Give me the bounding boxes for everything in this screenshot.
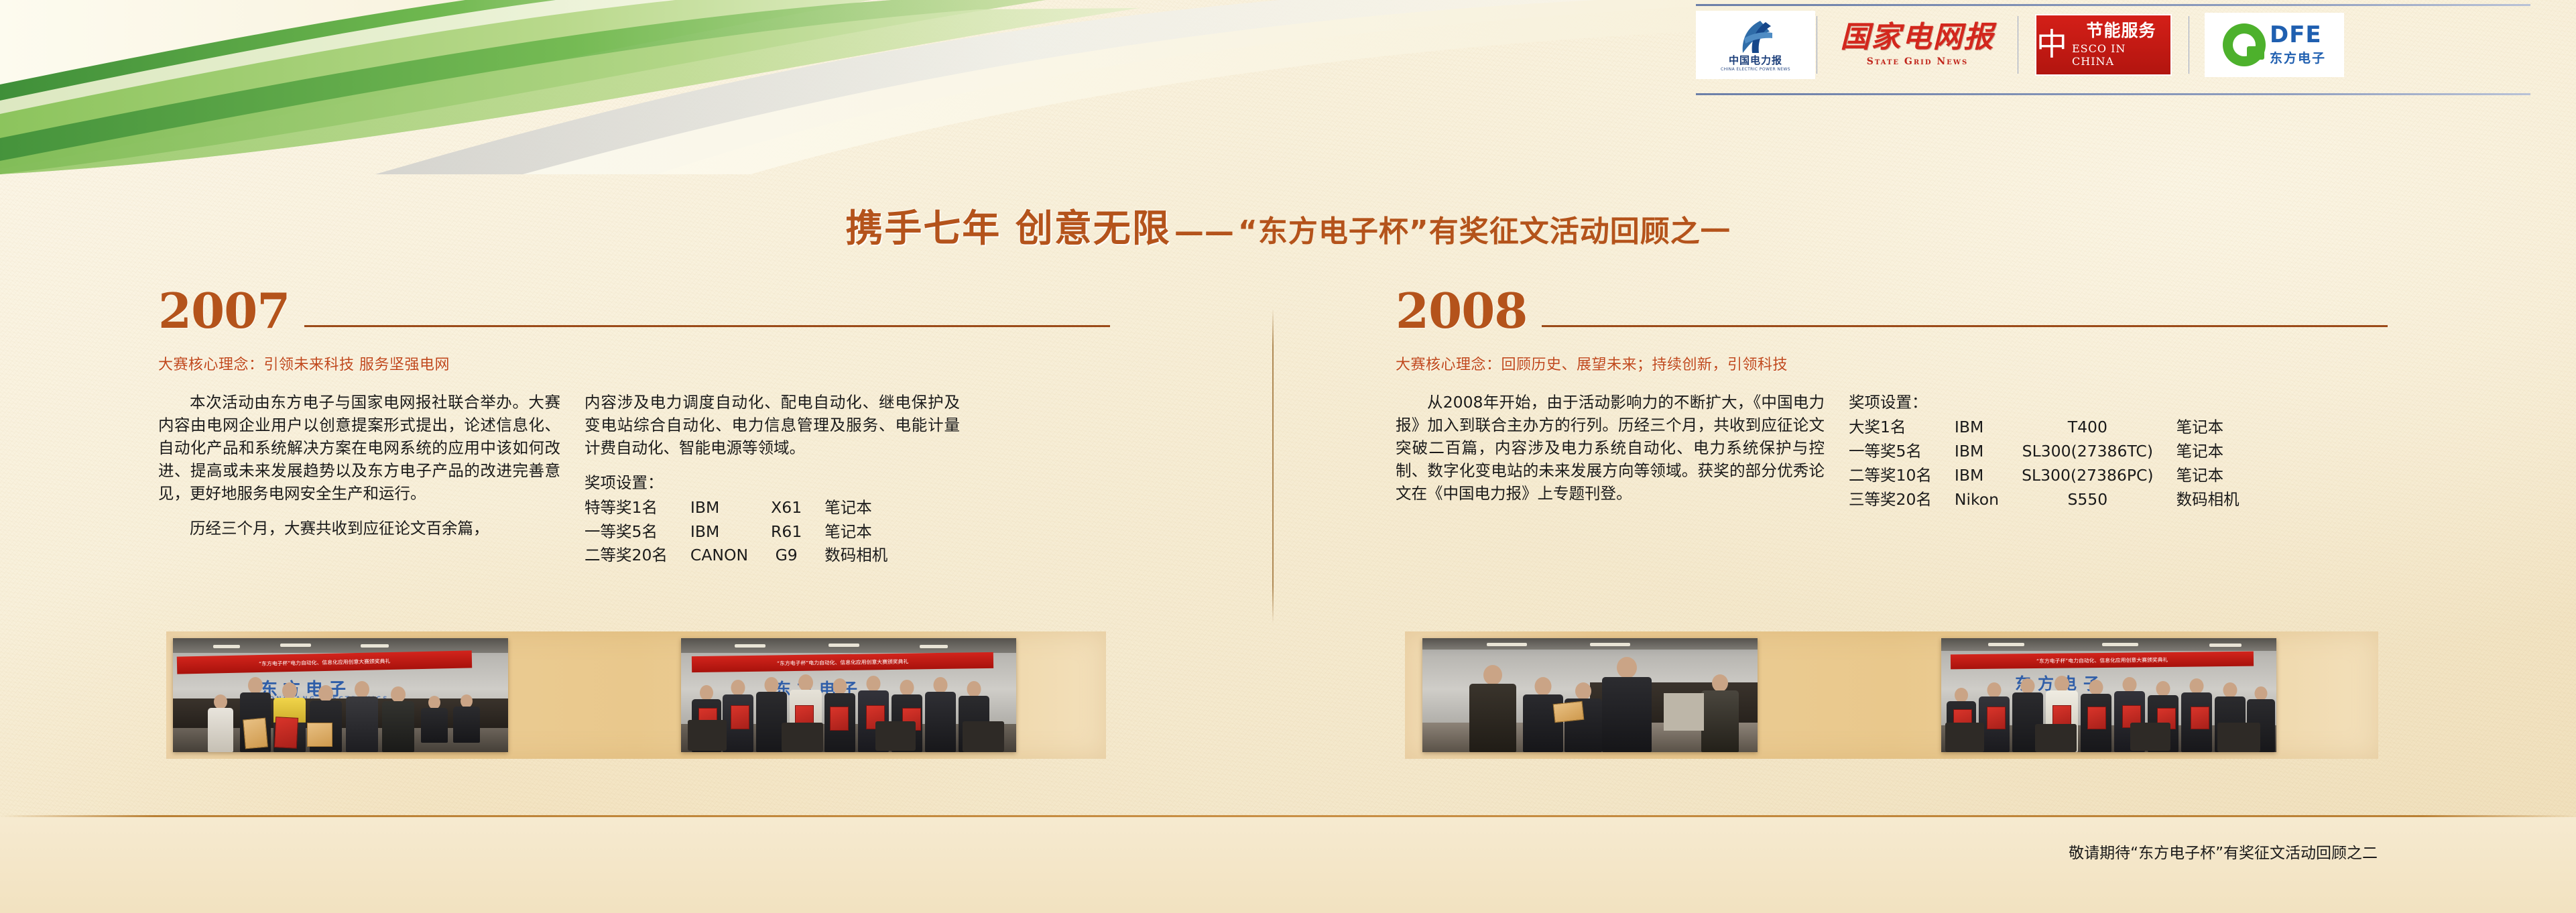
logo-dfe-en: DFE bbox=[2270, 23, 2322, 46]
esco-mark-icon: 中 bbox=[2036, 31, 2067, 58]
logo-bar-top-rule bbox=[1696, 4, 2530, 6]
bottom-panel bbox=[0, 817, 2576, 913]
logo-sgn-en: State Grid News bbox=[1867, 56, 1969, 67]
footer-note: 敬请期待“东方电子杯”有奖征文活动回顾之二 bbox=[2069, 840, 2378, 863]
award-prize: 笔记本 bbox=[2176, 464, 2240, 488]
award-ceremony-photo-4[interactable]: “东方电子杯”电力自动化、信息化应用创意大赛颁奖典礼 东方电子 bbox=[1941, 638, 2276, 752]
award-rank: 特等奖1名 bbox=[585, 496, 690, 520]
award-rank: 二等奖20名 bbox=[585, 544, 690, 568]
photo-banner-text: “东方电子杯”电力自动化、信息化应用创意大赛颁奖典礼 bbox=[2036, 656, 2168, 665]
paragraph: 历经三个月，大赛共收到应征论文百余篇， bbox=[158, 518, 560, 540]
paragraph: 从2008年开始，由于活动影响力的不断扩大，《中国电力报》加入到联合主办方的行列… bbox=[1396, 391, 1825, 505]
award-brand: IBM bbox=[690, 520, 771, 544]
award-rank: 三等奖20名 bbox=[1849, 488, 1955, 512]
logo-divider bbox=[2018, 16, 2018, 74]
dfe-circle-icon bbox=[2223, 23, 2266, 66]
header-swoosh-graphic bbox=[0, 0, 1810, 174]
logo-cepn-cn: 中国电力报 bbox=[1729, 56, 1782, 66]
award-model: X61 bbox=[771, 496, 824, 520]
table-row: 一等奖5名 IBM SL300(27386TC) 笔记本 bbox=[1849, 440, 2240, 464]
year-number: 2007 bbox=[158, 288, 290, 334]
award-prize: 笔记本 bbox=[2176, 440, 2240, 464]
award-brand: CANON bbox=[690, 544, 771, 568]
logo-esco-en: ESCO IN CHINA bbox=[2072, 42, 2170, 68]
award-rank: 一等奖5名 bbox=[1849, 440, 1955, 464]
logo-bar-bottom-rule bbox=[1696, 93, 2530, 95]
awards-table: 大奖1名 IBM T400 笔记本 一等奖5名 IBM SL300(27386T… bbox=[1849, 416, 2240, 511]
photo-banner-text: “东方电子杯”电力自动化、信息化应用创意大赛颁奖典礼 bbox=[777, 658, 908, 667]
title-main: 携手七年 创意无限 bbox=[845, 198, 1171, 253]
body-column-left: 本次活动由东方电子与国家电网报社联合举办。大赛内容由电网企业用户以创意提案形式提… bbox=[158, 391, 560, 568]
logo-dongfang-electronics[interactable]: DFE 东方电子 bbox=[2191, 11, 2358, 78]
award-model: S550 bbox=[2022, 488, 2176, 512]
awards-table: 特等奖1名 IBM X61 笔记本 一等奖5名 IBM R61 笔记本 bbox=[585, 496, 887, 568]
poster-canvas: 中国电力报 CHINA ELECTRIC POWER NEWS 国家电网报 St… bbox=[0, 0, 2576, 913]
body-column-right: 内容涉及电力调度自动化、配电自动化、继电保护及变电站综合自动化、电力信息管理及服… bbox=[585, 391, 960, 568]
award-prize: 笔记本 bbox=[824, 496, 887, 520]
table-row: 大奖1名 IBM T400 笔记本 bbox=[1849, 416, 2240, 440]
section-motto: 大赛核心理念：引领未来科技 服务坚强电网 bbox=[158, 353, 1110, 374]
esco-logo-box: 中 节能服务 ESCO IN CHINA bbox=[2036, 15, 2170, 74]
section-2008: 2008 大赛核心理念：回顾历史、展望未来；持续创新，引领科技 从2008年开始… bbox=[1396, 288, 2388, 518]
title-subtitle: “东方电子杯”有奖征文活动回顾之一 bbox=[1238, 215, 1731, 249]
award-model: SL300(27386TC) bbox=[2022, 440, 2176, 464]
table-row: 二等奖20名 CANON G9 数码相机 bbox=[585, 544, 887, 568]
award-ceremony-photo-1[interactable]: “东方电子杯”电力自动化、信息化应用创意大赛颁奖典礼 东方电子 DONGFANG… bbox=[173, 638, 508, 752]
section-2007: 2007 大赛核心理念：引领未来科技 服务坚强电网 本次活动由东方电子与国家电网… bbox=[158, 288, 1110, 568]
award-model: G9 bbox=[771, 544, 824, 568]
award-brand: Nikon bbox=[1955, 488, 2022, 512]
awards-heading: 奖项设置： bbox=[1849, 391, 2311, 414]
section-motto: 大赛核心理念：回顾历史、展望未来；持续创新，引领科技 bbox=[1396, 353, 2388, 374]
award-brand: IBM bbox=[1955, 416, 2022, 440]
award-rank: 二等奖10名 bbox=[1849, 464, 1955, 488]
award-model: T400 bbox=[2022, 416, 2176, 440]
award-ceremony-photo-2[interactable]: “东方电子杯”电力自动化、信息化应用创意大赛颁奖典礼 东方电子 bbox=[681, 638, 1016, 752]
award-prize: 数码相机 bbox=[2176, 488, 2240, 512]
dfe-logo-box: DFE 东方电子 bbox=[2205, 13, 2344, 77]
awards-heading: 奖项设置： bbox=[585, 472, 960, 495]
year-heading-2007: 2007 bbox=[158, 288, 1110, 334]
partner-logo-bar: 中国电力报 CHINA ELECTRIC POWER NEWS 国家电网报 St… bbox=[1696, 5, 2547, 84]
year-heading-2008: 2008 bbox=[1396, 288, 2388, 334]
year-number: 2008 bbox=[1396, 288, 1527, 334]
logo-cepn-en: CHINA ELECTRIC POWER NEWS bbox=[1721, 67, 1790, 72]
award-rank: 一等奖5名 bbox=[585, 520, 690, 544]
award-rank: 大奖1名 bbox=[1849, 416, 1955, 440]
body-column-left: 从2008年开始，由于活动影响力的不断扩大，《中国电力报》加入到联合主办方的行列… bbox=[1396, 391, 1825, 517]
title-dash: —— bbox=[1174, 215, 1235, 249]
award-prize: 笔记本 bbox=[824, 520, 887, 544]
table-row: 三等奖20名 Nikon S550 数码相机 bbox=[1849, 488, 2240, 512]
award-prize: 笔记本 bbox=[2176, 416, 2240, 440]
logo-divider bbox=[1817, 16, 1817, 74]
year-rule bbox=[1542, 325, 2388, 327]
award-prize: 数码相机 bbox=[824, 544, 887, 568]
table-row: 一等奖5名 IBM R61 笔记本 bbox=[585, 520, 887, 544]
section-divider bbox=[1272, 308, 1274, 623]
poster-title: 携手七年 创意无限 —— “东方电子杯”有奖征文活动回顾之一 bbox=[0, 198, 2576, 253]
award-ceremony-photo-3[interactable] bbox=[1422, 638, 1758, 752]
table-row: 特等奖1名 IBM X61 笔记本 bbox=[585, 496, 887, 520]
logo-state-grid-news[interactable]: 国家电网报 State Grid News bbox=[1819, 11, 2016, 78]
table-row: 二等奖10名 IBM SL300(27386PC) 笔记本 bbox=[1849, 464, 2240, 488]
logo-esco-cn: 节能服务 bbox=[2086, 22, 2156, 40]
paragraph: 本次活动由东方电子与国家电网报社联合举办。大赛内容由电网企业用户以创意提案形式提… bbox=[158, 391, 560, 505]
year-rule bbox=[304, 325, 1110, 327]
photo-band-2008: “东方电子杯”电力自动化、信息化应用创意大赛颁奖典礼 东方电子 bbox=[1405, 631, 2378, 759]
award-model: R61 bbox=[771, 520, 824, 544]
logo-china-electric-power-news[interactable]: 中国电力报 CHINA ELECTRIC POWER NEWS bbox=[1696, 11, 1815, 79]
cepn-mark-icon bbox=[1731, 18, 1780, 56]
body-column-right: 奖项设置： 大奖1名 IBM T400 笔记本 一等奖5名 IBM SL300(… bbox=[1849, 391, 2311, 517]
award-brand: IBM bbox=[1955, 440, 2022, 464]
logo-sgn-cn: 国家电网报 bbox=[1841, 23, 1995, 52]
logo-dfe-cn: 东方电子 bbox=[2270, 48, 2326, 66]
logo-divider bbox=[2189, 16, 2189, 74]
award-brand: IBM bbox=[690, 496, 771, 520]
award-model: SL300(27386PC) bbox=[2022, 464, 2176, 488]
photo-band-2007: “东方电子杯”电力自动化、信息化应用创意大赛颁奖典礼 东方电子 DONGFANG… bbox=[166, 631, 1106, 759]
photo-banner-text: “东方电子杯”电力自动化、信息化应用创意大赛颁奖典礼 bbox=[259, 658, 390, 668]
logo-esco-in-china[interactable]: 中 节能服务 ESCO IN CHINA bbox=[2020, 11, 2187, 78]
paragraph: 内容涉及电力调度自动化、配电自动化、继电保护及变电站综合自动化、电力信息管理及服… bbox=[585, 391, 960, 459]
award-brand: IBM bbox=[1955, 464, 2022, 488]
